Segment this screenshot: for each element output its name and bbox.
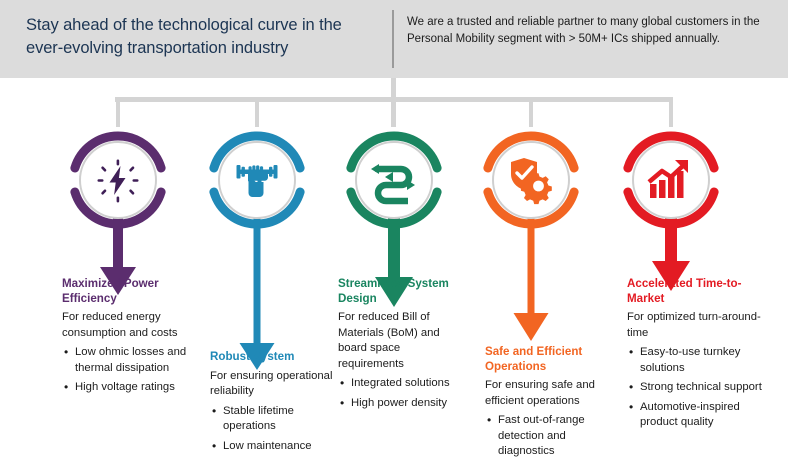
header-subtitle: We are a trusted and reliable partner to… [407, 14, 767, 47]
text-block-1: Maximized Power Efficiency For reduced e… [62, 277, 192, 400]
growth-chart-arrow-icon [641, 150, 701, 210]
icon-ring-5 [619, 128, 723, 232]
connector-drop-5 [669, 97, 673, 127]
page-title: Stay ahead of the technological curve in… [26, 14, 376, 60]
column-heading-1: Maximized Power Efficiency [62, 277, 192, 306]
column-heading-5: Accelerated Time-to-Market [627, 277, 765, 306]
list-item: Strong technical support [640, 380, 765, 396]
column-description-4: For ensuring safe and efficient operatio… [485, 378, 607, 409]
connector-drop-3 [391, 97, 396, 127]
column-heading-2: Robust System [210, 350, 338, 365]
list-item: Stable lifetime operations [223, 404, 338, 435]
shield-check-gear-icon [501, 150, 561, 210]
column-description-3: For reduced Bill of Materials (BoM) and … [338, 310, 463, 372]
column-bullets-5: Easy-to-use turnkey solutions Strong tec… [627, 345, 765, 431]
column-description-5: For optimized turn-around-time [627, 310, 765, 341]
icon-ring-3 [342, 128, 446, 232]
connector-drop-1 [116, 97, 120, 127]
list-item: Low maintenance [223, 439, 338, 455]
column-heading-3: Streamlined System Design [338, 277, 463, 306]
list-item: Integrated solutions [351, 376, 463, 392]
list-item: Fast out-of-range detection and diagnost… [498, 413, 607, 460]
column-description-2: For ensuring operational reliability [210, 369, 338, 400]
connector-drop-4 [529, 97, 533, 127]
connector-top-stem [391, 78, 396, 99]
connector-drop-2 [255, 97, 259, 127]
icon-ring-2 [205, 128, 309, 232]
list-item: Automotive-inspired product quality [640, 400, 765, 431]
flexed-arm-dumbbell-icon [227, 150, 287, 210]
column-bullets-1: Low ohmic losses and thermal dissipation… [62, 345, 192, 396]
column-bullets-4: Fast out-of-range detection and diagnost… [485, 413, 607, 460]
text-block-5: Accelerated Time-to-Market For optimized… [627, 277, 765, 435]
icon-ring-4 [479, 128, 583, 232]
list-item: High voltage ratings [75, 380, 192, 396]
text-block-4: Safe and Efficient Operations For ensuri… [485, 345, 607, 464]
serpentine-flow-arrows-icon [364, 150, 424, 210]
list-item: High power density [351, 396, 463, 412]
text-block-3: Streamlined System Design For reduced Bi… [338, 277, 463, 415]
list-item: Easy-to-use turnkey solutions [640, 345, 765, 376]
header-divider [392, 10, 394, 68]
lightning-bolt-icon [88, 150, 148, 210]
column-description-1: For reduced energy consumption and costs [62, 310, 192, 341]
list-item: Low ohmic losses and thermal dissipation [75, 345, 192, 376]
column-bullets-2: Stable lifetime operations Low maintenan… [210, 404, 338, 455]
icon-ring-1 [66, 128, 170, 232]
header-banner: Stay ahead of the technological curve in… [0, 0, 788, 78]
text-block-2: Robust System For ensuring operational r… [210, 350, 338, 458]
column-bullets-3: Integrated solutions High power density [338, 376, 463, 411]
column-heading-4: Safe and Efficient Operations [485, 345, 607, 374]
